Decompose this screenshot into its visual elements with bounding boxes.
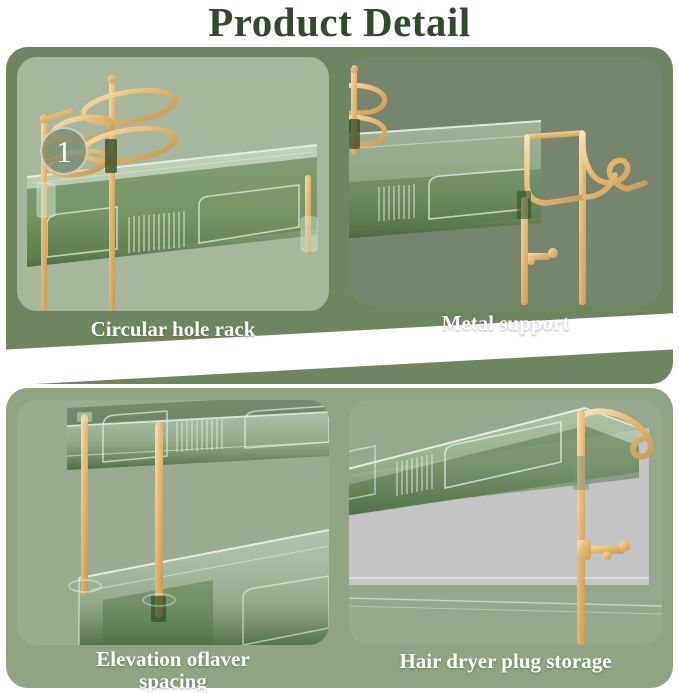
panel-2-caption-line-1: Metal support	[349, 312, 662, 334]
product-detail-infographic: Product Detail	[0, 0, 679, 693]
panel-1-circular-hole-rack[interactable]: 1	[17, 57, 329, 311]
panel-3-caption: Elevation oflaver spacing	[17, 648, 329, 692]
panel-1-caption: Circular hole rack	[17, 318, 329, 340]
panel-3-caption-line-1: Elevation oflaver	[17, 648, 329, 670]
panel-3-caption-line-2: spacing	[17, 670, 329, 692]
panel-4-caption-line-1: Hair dryer plug storage	[349, 650, 662, 672]
panel-1-artwork	[17, 57, 329, 311]
panel-2-metal-support[interactable]: 2	[349, 57, 662, 305]
panel-1-number-badge: 1	[40, 127, 88, 175]
page-title: Product Detail	[0, 0, 679, 46]
panel-4-caption: Hair dryer plug storage	[349, 650, 662, 672]
panel-2-artwork	[349, 57, 662, 305]
panel-1-caption-line-1: Circular hole rack	[17, 318, 329, 340]
panel-2-caption: Metal support	[349, 312, 662, 334]
panel-4-artwork	[349, 400, 662, 645]
panel-3-elevation-of-layer-spacing[interactable]: 3	[17, 400, 329, 645]
panel-3-artwork	[17, 400, 329, 645]
panel-4-hair-dryer-plug-storage[interactable]: 4	[349, 400, 662, 645]
